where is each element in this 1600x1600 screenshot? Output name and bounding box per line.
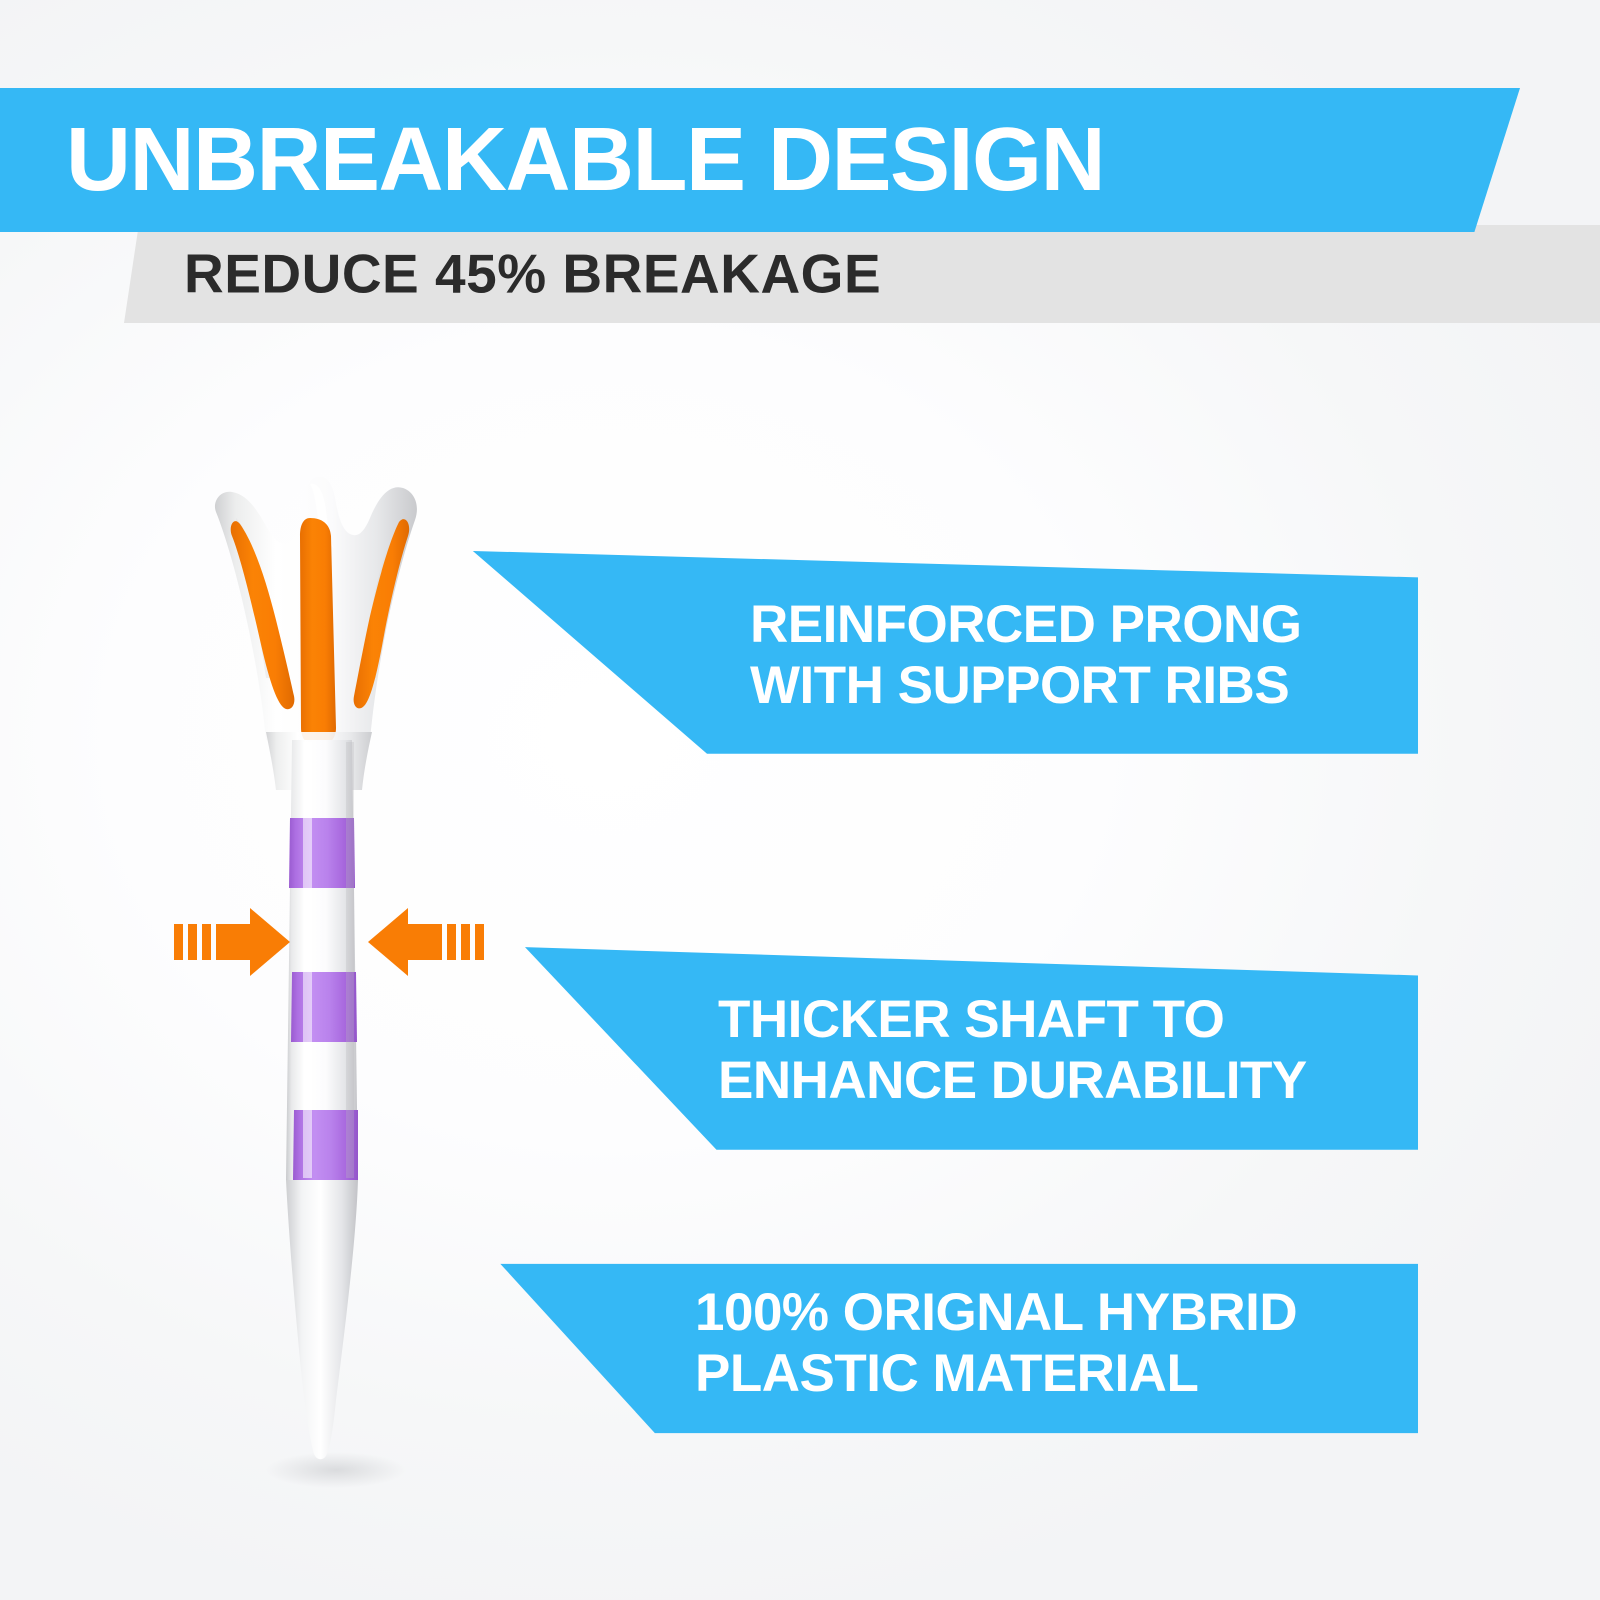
- shaft-tip: [286, 1180, 358, 1459]
- callout-label: 100% ORIGNAL HYBRID PLASTIC MATERIAL: [695, 1282, 1297, 1405]
- header-gray-banner: REDUCE 45% BREAKAGE: [124, 225, 1600, 323]
- callout-label: THICKER SHAFT TO ENHANCE DURABILITY: [718, 989, 1307, 1112]
- compression-arrow-left-icon: [368, 906, 484, 978]
- support-rib-center: [300, 518, 336, 746]
- page-subtitle: REDUCE 45% BREAKAGE: [184, 247, 881, 302]
- header-blue-banner: UNBREAKABLE DESIGN: [0, 88, 1520, 232]
- callout-thicker-shaft: THICKER SHAFT TO ENHANCE DURABILITY: [470, 945, 1418, 1155]
- tee-shaft: [286, 740, 358, 1459]
- page-title: UNBREAKABLE DESIGN: [66, 115, 1104, 205]
- callout-reinforced-prong: REINFORCED PRONG WITH SUPPORT RIBS: [470, 548, 1418, 758]
- shaft-band-1: [289, 818, 355, 888]
- callout-label: REINFORCED PRONG WITH SUPPORT RIBS: [750, 594, 1301, 717]
- compression-arrow-right-icon: [174, 906, 290, 978]
- callout-hybrid-material: 100% ORIGNAL HYBRID PLASTIC MATERIAL: [470, 1262, 1418, 1444]
- infographic-canvas: UNBREAKABLE DESIGN REDUCE 45% BREAKAGE: [0, 0, 1600, 1600]
